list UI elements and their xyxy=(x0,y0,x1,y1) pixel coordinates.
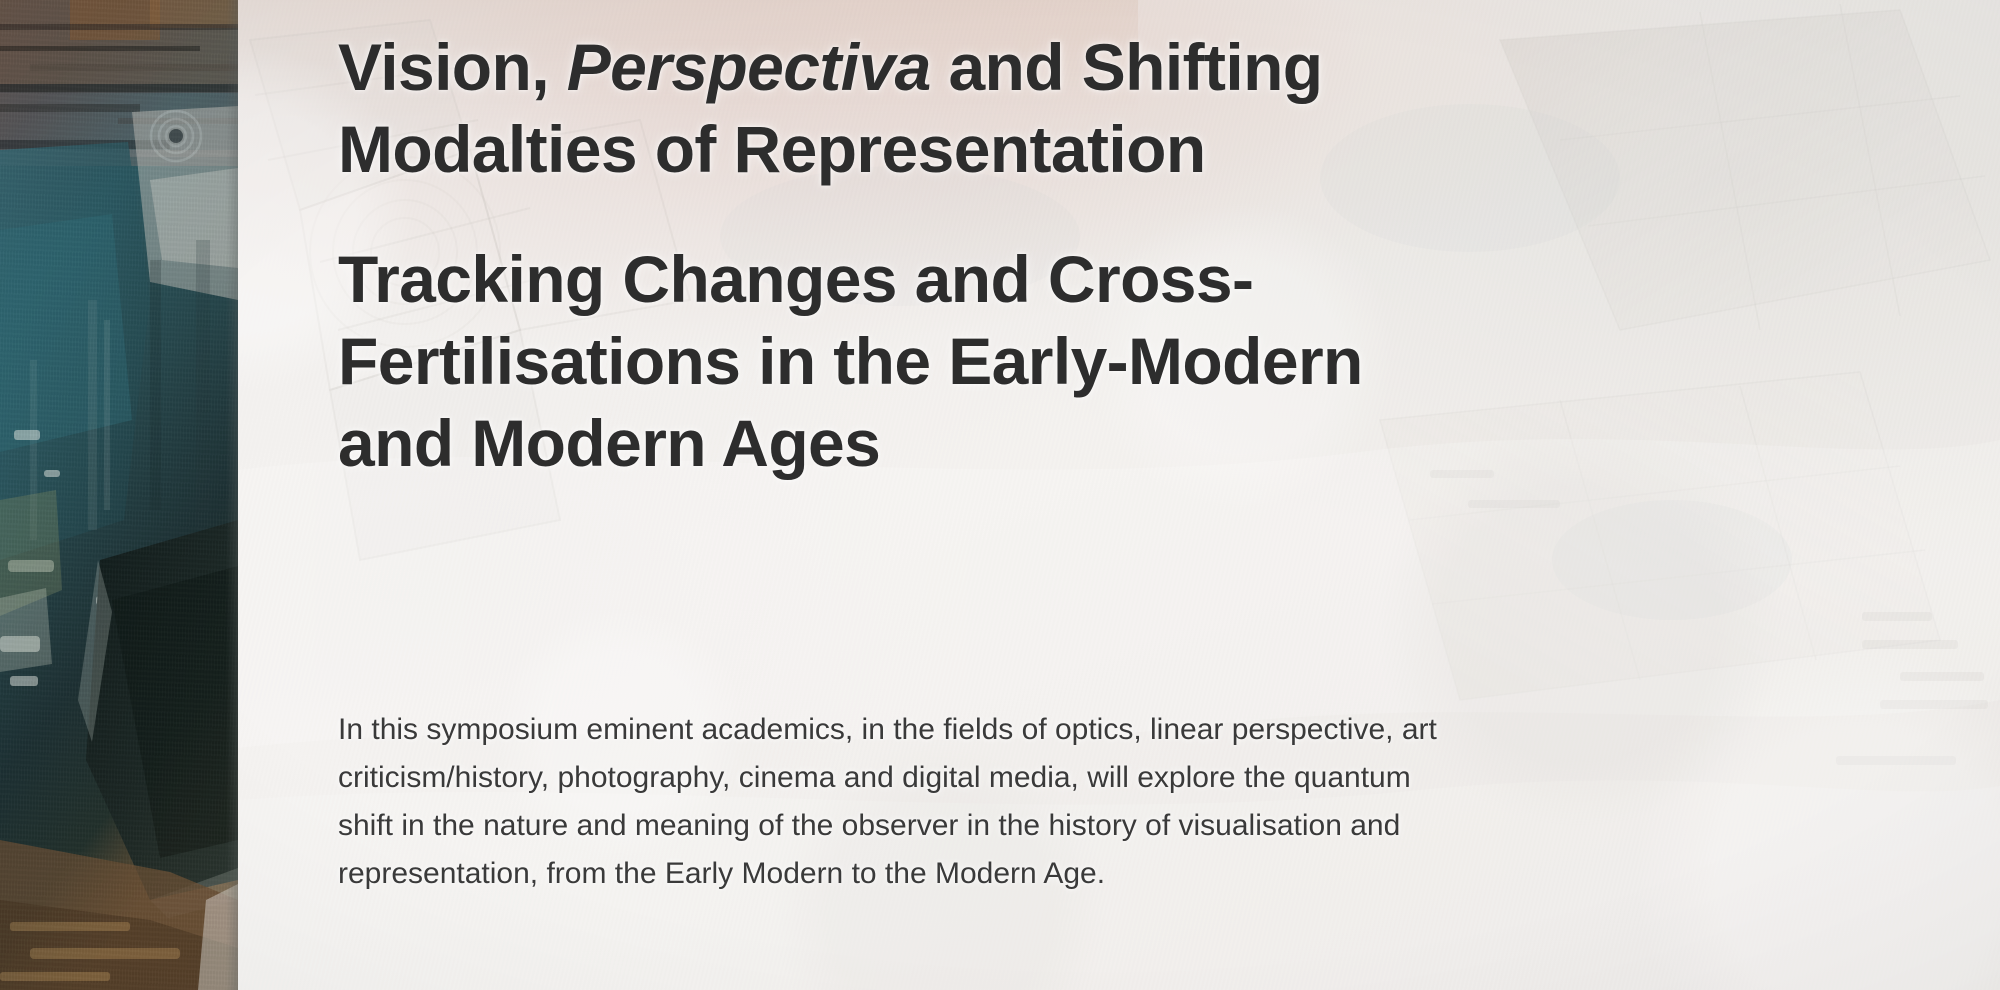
description-line-1: In this symposium eminent academics, in … xyxy=(338,706,1538,754)
title-primary-line-1-pre: Vision, xyxy=(338,30,567,104)
title-secondary-line-3: and Modern Ages xyxy=(338,402,1548,484)
title-secondary: Tracking Changes and Cross- Fertilisatio… xyxy=(338,238,1548,484)
poster-content: Vision, Perspectiva and Shifting Modalti… xyxy=(338,0,1968,990)
title-secondary-line-2: Fertilisations in the Early-Modern xyxy=(338,320,1548,402)
strip-grain-overlay xyxy=(0,0,238,990)
title-primary-italic-word: Perspectiva xyxy=(567,30,931,104)
title-secondary-line-1: Tracking Changes and Cross- xyxy=(338,238,1548,320)
symposium-description: In this symposium eminent academics, in … xyxy=(338,706,1538,898)
title-primary-line-1: Vision, Perspectiva and Shifting xyxy=(338,26,1458,108)
description-line-4: representation, from the Early Modern to… xyxy=(338,850,1538,898)
strip-right-edge-fade xyxy=(226,0,238,990)
abstract-painting-strip xyxy=(0,0,238,990)
title-primary: Vision, Perspectiva and Shifting Modalti… xyxy=(338,26,1458,190)
title-primary-line-2: Modalties of Representation xyxy=(338,108,1458,190)
title-primary-line-1-post: and Shifting xyxy=(931,30,1323,104)
description-line-2: criticism/history, photography, cinema a… xyxy=(338,754,1538,802)
description-line-3: shift in the nature and meaning of the o… xyxy=(338,802,1538,850)
poster-canvas: Vision, Perspectiva and Shifting Modalti… xyxy=(0,0,2000,990)
